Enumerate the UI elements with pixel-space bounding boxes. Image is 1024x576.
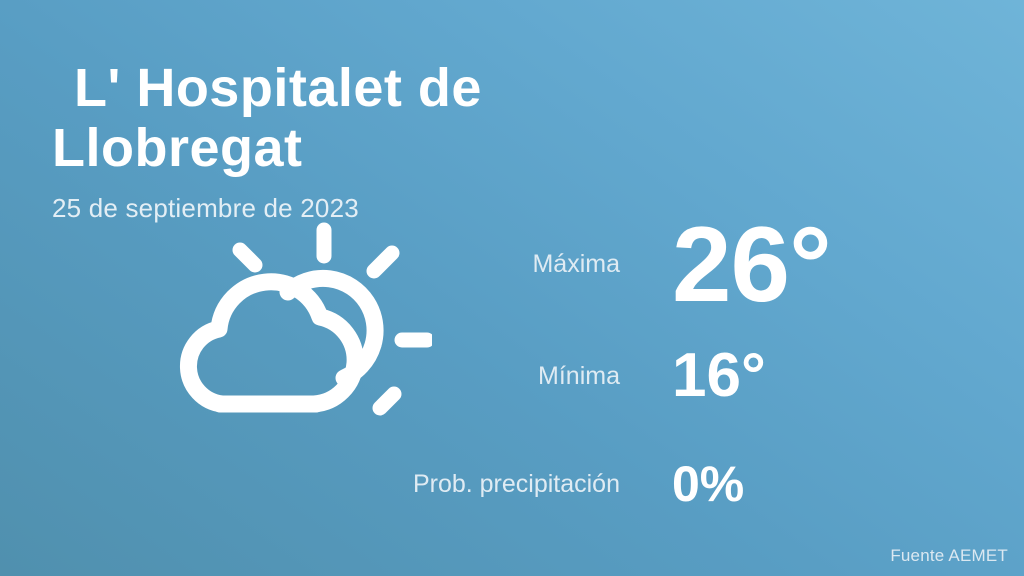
sun-ray-lower-right [380,394,394,408]
sun-ray-upper-left [240,250,255,265]
stat-row-maxima: Máxima 26° [400,208,1010,320]
stat-label-precipitacion: Prob. precipitación [400,470,672,499]
source-attribution: Fuente AEMET [890,546,1008,566]
page-title: L' Hospitalet de Llobregat [52,58,652,179]
sun-ray-upper-right [374,253,392,271]
stat-value-minima: 16° [672,345,766,407]
sun-behind-cloud-icon [152,218,432,433]
location-block: L' Hospitalet de Llobregat 25 de septiem… [52,58,652,224]
stat-row-precipitacion: Prob. precipitación 0% [400,432,1010,536]
stat-label-minima: Mínima [400,362,672,391]
forecast-stats: Máxima 26° Mínima 16° Prob. precipitació… [400,208,1010,536]
stat-label-maxima: Máxima [400,250,672,279]
cloud-shape [188,282,355,404]
stat-value-maxima: 26° [672,211,831,318]
stat-value-precipitacion: 0% [672,459,744,509]
stat-row-minima: Mínima 16° [400,320,1010,432]
weather-card: L' Hospitalet de Llobregat 25 de septiem… [0,0,1024,576]
